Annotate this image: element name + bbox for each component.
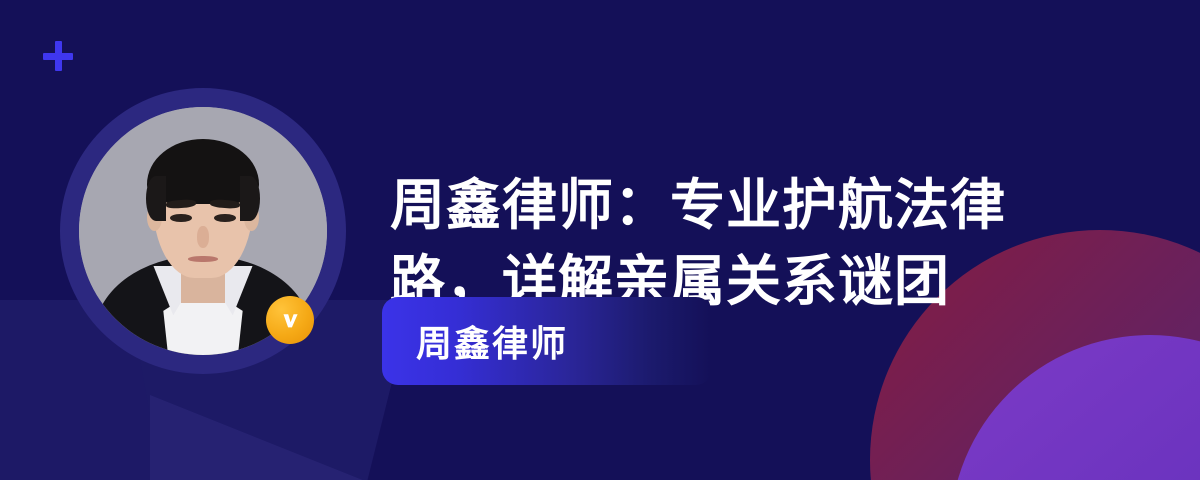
plus-icon xyxy=(43,41,73,71)
avatar[interactable] xyxy=(60,88,346,374)
page-title-line-1: 周鑫律师：专业护航法律 xyxy=(390,167,1090,243)
author-name-button[interactable]: 周鑫律师 xyxy=(382,297,712,385)
article-header-banner: 周鑫律师：专业护航法律 路，详解亲属关系谜团 周鑫律师 xyxy=(0,0,1200,480)
verified-badge-icon xyxy=(266,296,314,344)
